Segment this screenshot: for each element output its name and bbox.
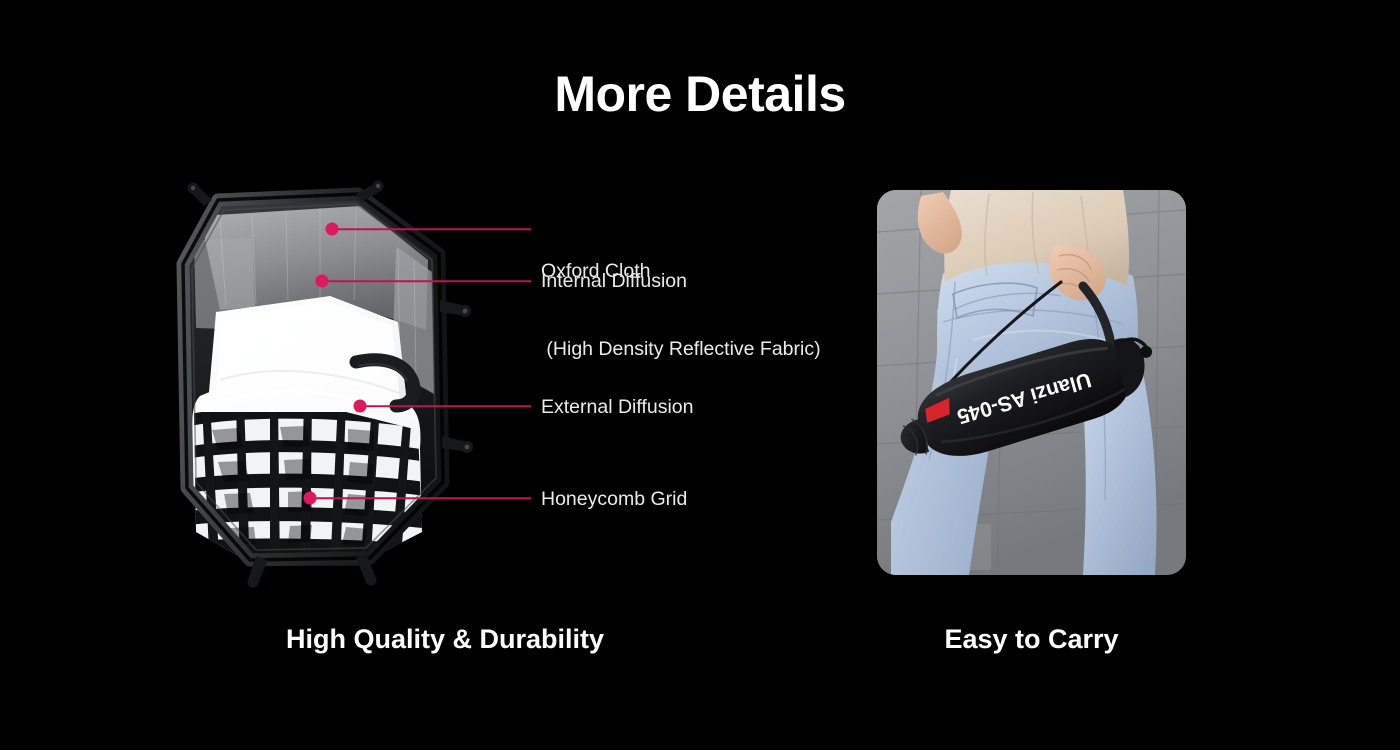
callout-dot-external-diffusion bbox=[354, 400, 367, 413]
callout-line-internal-diffusion bbox=[322, 280, 531, 282]
callout-label-internal-diffusion: Internal Diffusion bbox=[541, 268, 687, 294]
callout-label-external-diffusion: External Diffusion bbox=[541, 394, 693, 420]
callout-label-oxford-cloth-line2: (High Density Reflective Fabric) bbox=[541, 336, 821, 362]
caption-high-quality-durability: High Quality & Durability bbox=[145, 622, 745, 656]
callout-label-oxford-cloth: Oxford Cloth (High Density Reflective Fa… bbox=[541, 206, 821, 414]
callout-line-external-diffusion bbox=[360, 405, 531, 407]
callout-dot-internal-diffusion bbox=[316, 275, 329, 288]
callout-dot-oxford-cloth bbox=[326, 223, 339, 236]
carry-bag-photo: Ulanzi AS-045 bbox=[877, 190, 1186, 575]
softbox-illustration bbox=[160, 180, 510, 590]
panel-easy-to-carry: Ulanzi AS-045 bbox=[877, 190, 1186, 575]
page-title: More Details bbox=[0, 64, 1400, 124]
callout-dot-honeycomb-grid bbox=[304, 492, 317, 505]
product-detail-slide: More Details bbox=[0, 0, 1400, 750]
callout-label-honeycomb-grid: Honeycomb Grid bbox=[541, 486, 687, 512]
caption-easy-to-carry: Easy to Carry bbox=[877, 622, 1186, 656]
callout-line-honeycomb-grid bbox=[310, 497, 531, 499]
callout-line-oxford-cloth bbox=[332, 228, 531, 230]
